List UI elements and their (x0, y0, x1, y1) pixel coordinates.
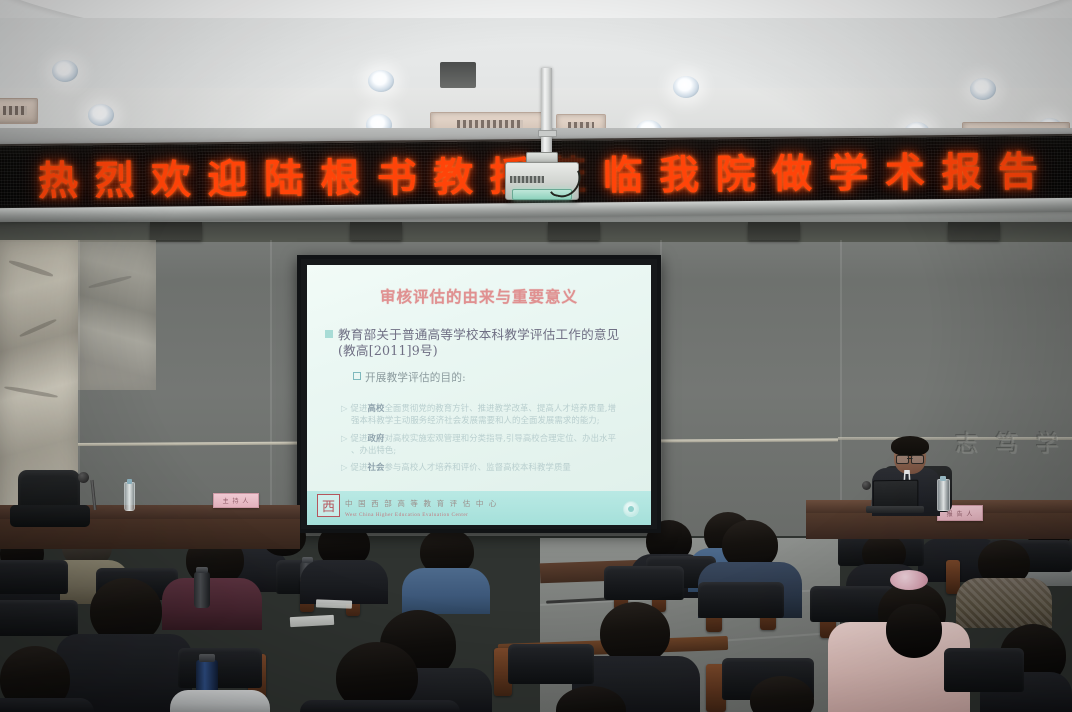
led-char: 术 (885, 140, 926, 198)
institution-name-en: West China Higher Education Evaluation C… (345, 512, 468, 518)
slide-sub-bullet: 开展教学评估的目的: (353, 370, 466, 385)
empty-chair-left-base (10, 505, 90, 527)
led-char: 做 (772, 141, 813, 199)
wall-beam (748, 222, 800, 240)
institution-logo-icon: 西 (317, 494, 340, 517)
arrow-bullet-icon: ▷ (341, 462, 348, 472)
water-bottle-left (124, 482, 135, 511)
led-char: 我 (659, 142, 700, 200)
ceiling (0, 0, 1072, 150)
audience-torso (170, 690, 270, 712)
slide-point-text: 参与高校人才培养和评价、监督高校本科教学质量 (384, 462, 570, 472)
slide-corner-ornament-icon (623, 501, 639, 517)
speaker-hair (891, 436, 929, 456)
arrow-bullet-icon: ▷ (341, 403, 348, 413)
slide-bullet-level1: 教育部关于普通高等学校本科教学评估工作的意见 (教高[2011]9号) (325, 327, 641, 359)
audience-torso (956, 578, 1052, 628)
auditorium-seat (508, 644, 594, 684)
downlight-ceiling (673, 76, 699, 98)
arrow-bullet-icon: ▷ (341, 433, 348, 443)
led-char: 热 (38, 148, 79, 206)
laptop-keyboard[interactable] (866, 506, 924, 513)
led-char: 陆 (264, 146, 305, 204)
slide-sub-bullet-text: 开展教学评估的目的: (365, 372, 466, 384)
led-char: 学 (828, 141, 869, 199)
auditorium-seat (178, 648, 262, 688)
slide-point-emphasis: 政府 (368, 433, 385, 443)
slide-point-text: 全面贯彻党的教育方针、推进教学改革、提高人才培养质量,增 (384, 403, 616, 413)
slide-bullet-text-line1: 教育部关于普通高等学校本科教学评估工作的意见 (338, 327, 619, 342)
led-char: 报 (941, 140, 982, 198)
wall-beam (350, 222, 402, 240)
slide-point-text2: 强本科教学主动服务经济社会发展需要和人的全面发展需求的能力; (351, 415, 600, 425)
slide-point-text: 对高校实施宏观管理和分类指导,引导高校合理定位、办出水平 (384, 433, 616, 443)
auditorium-seat (944, 648, 1024, 692)
downlight-ceiling (52, 60, 78, 82)
auditorium-seat (604, 566, 684, 600)
auditorium-seat (0, 600, 78, 636)
projector-vent (510, 176, 544, 183)
nameplate-left: 主 持 人 (213, 493, 259, 508)
wall-beam (948, 222, 1000, 240)
wall-beam (548, 222, 600, 240)
audience-torso (402, 568, 490, 614)
slide-bullet-text-line2: (教高[2011]9号) (338, 343, 641, 359)
institution-name-cn: 中 国 西 部 高 等 教 育 评 估 中 心 (345, 498, 498, 509)
projection-screen: 审核评估的由来与重要意义 教育部关于普通高等学校本科教学评估工作的意见 (教高[… (307, 265, 651, 525)
air-vent-recess (440, 62, 476, 88)
slide-title: 审核评估的由来与重要意义 (307, 285, 651, 307)
bullet-hollow-square-icon (353, 372, 361, 380)
wall-panel-seam (270, 240, 272, 540)
downlight-ceiling (368, 70, 394, 92)
hair-scrunchie (890, 570, 928, 590)
speaker-eyeglasses (896, 455, 924, 462)
auditorium-seat (698, 582, 784, 618)
slide-point-text2: 、办出特色; (351, 445, 396, 455)
led-char: 教 (433, 145, 474, 203)
audience-head (600, 602, 670, 664)
slide-point-emphasis: 社会 (368, 462, 385, 472)
led-char: 烈 (94, 148, 135, 206)
slide-point: ▷促进高校全面贯彻党的教育方针、推进教学改革、提高人才培养质量,增 强本科教学主… (341, 402, 643, 426)
wall-calligraphy: 志 笃 学 慎 思 (955, 424, 1067, 458)
led-char: 院 (715, 142, 756, 200)
microphone-head-right (862, 481, 871, 490)
slide-point-lead: 促进 (351, 433, 368, 443)
led-char: 书 (377, 145, 418, 203)
lecture-hall-photo: 热 烈 欢 迎 陆 根 书 教 授 莅 临 我 院 做 学 术 报 告 (0, 0, 1072, 712)
wall-beam (150, 222, 202, 240)
downlight-ceiling (88, 104, 114, 126)
led-char: 临 (602, 143, 643, 201)
slide-point: ▷促进社会参与高校人才培养和评价、监督高校本科教学质量 (341, 461, 643, 473)
audience-torso (300, 560, 388, 604)
audience-ponytail (886, 604, 942, 658)
water-bottle-right (937, 479, 950, 511)
audience-torso (162, 578, 262, 630)
handout-paper (316, 599, 352, 608)
projection-screen-frame: 审核评估的由来与重要意义 教育部关于普通高等学校本科教学评估工作的意见 (教高[… (297, 255, 661, 533)
handout-paper (290, 615, 334, 627)
auditorium-seat (0, 560, 68, 594)
slide-footer-band: 西 中 国 西 部 高 等 教 育 评 估 中 心 West China Hig… (307, 491, 651, 525)
audience-torso (300, 700, 460, 712)
slide-point-lead: 促进 (351, 403, 368, 413)
air-vent (0, 98, 38, 124)
led-char: 欢 (151, 147, 192, 205)
led-char: 根 (320, 146, 361, 204)
audience-torso (0, 698, 94, 712)
thermos-flask (194, 572, 210, 608)
microphone-head-left (78, 472, 89, 483)
wall-panel-seam (840, 240, 842, 540)
led-char: 迎 (207, 147, 248, 205)
wall-marble-panel (78, 240, 156, 390)
slide-point: ▷促进政府对高校实施宏观管理和分类指导,引导高校合理定位、办出水平 、办出特色; (341, 432, 643, 456)
downlight-ceiling (970, 78, 996, 100)
slide-point-emphasis: 高校 (368, 403, 385, 413)
led-char: 告 (998, 139, 1039, 197)
slide-point-lead: 促进 (351, 462, 368, 472)
bullet-square-icon (325, 330, 333, 338)
